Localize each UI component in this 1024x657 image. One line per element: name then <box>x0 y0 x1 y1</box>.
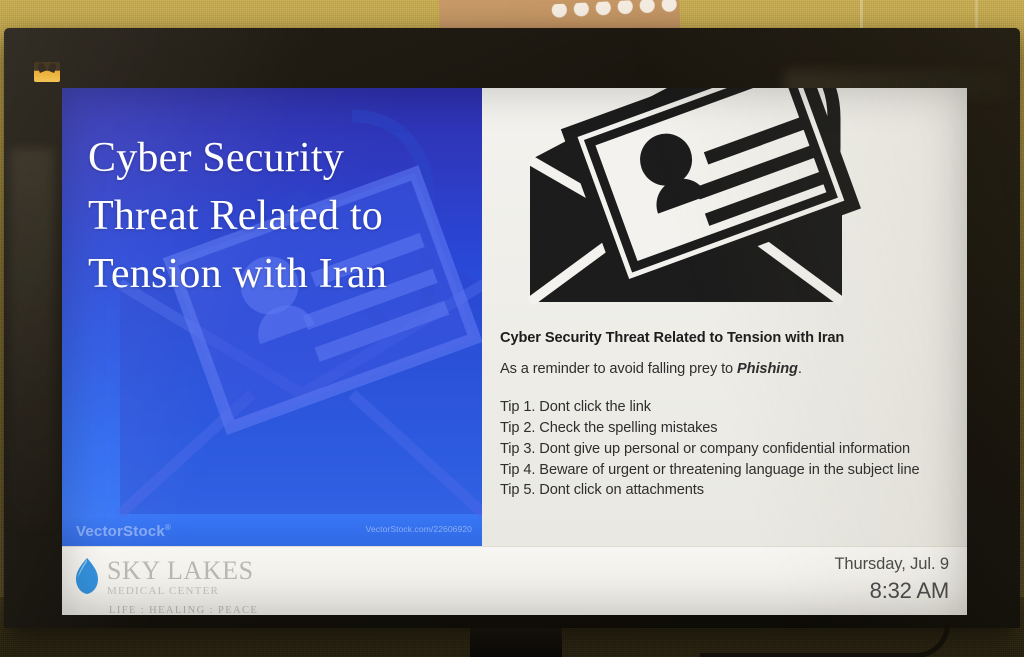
slide-text-block: Cyber Security Threat Related to Tension… <box>500 330 957 501</box>
vectorstock-logo-text: VectorStock <box>76 523 165 540</box>
sky-lakes-logo: SKY LAKES MEDICAL CENTER LIFE : HEALING … <box>74 557 258 615</box>
registered-mark-icon: ® <box>165 523 171 532</box>
tip-item: Tip 5. Dont click on attachments <box>500 480 957 501</box>
tip-item: Tip 1. Dont click the link <box>500 397 957 418</box>
monitor: Cyber Security Threat Related to Tension… <box>4 28 1020 628</box>
vectorstock-watermark-bar: VectorStock® VectorStock.com/22606920 <box>62 516 482 546</box>
slide-title-line-1: Cyber Security <box>88 130 468 188</box>
reminder-suffix: . <box>798 361 802 377</box>
clock-time: 8:32 AM <box>834 578 949 604</box>
vectorstock-url: VectorStock.com/22606920 <box>366 524 472 534</box>
slide-title-panel: Cyber Security Threat Related to Tension… <box>62 88 482 546</box>
slide-title-line-2: Threat Related to <box>88 188 468 246</box>
slide-title: Cyber Security Threat Related to Tension… <box>88 130 468 304</box>
vectorstock-logo: VectorStock® <box>76 523 171 540</box>
tip-item: Tip 2. Check the spelling mistakes <box>500 418 957 439</box>
clock-widget: Thursday, Jul. 9 8:32 AM <box>834 555 949 604</box>
reminder-text: As a reminder to avoid falling prey to P… <box>500 361 957 377</box>
logo-name: SKY LAKES <box>107 559 258 584</box>
tip-item: Tip 3. Dont give up personal or company … <box>500 439 957 460</box>
slide: Cyber Security Threat Related to Tension… <box>62 88 967 546</box>
logo-tagline: LIFE : HEALING : PEACE <box>109 605 258 615</box>
tip-item: Tip 4. Beware of urgent or threatening l… <box>500 460 957 481</box>
slide-content-panel: Cyber Security Threat Related to Tension… <box>482 88 967 546</box>
phishing-emphasis: Phishing <box>737 361 798 377</box>
reminder-prefix: As a reminder to avoid falling prey to <box>500 361 737 377</box>
flame-leaf-logo-icon <box>74 557 100 595</box>
content-headline: Cyber Security Threat Related to Tension… <box>500 330 957 346</box>
phishing-envelope-id-card-monochrome-icon <box>524 88 914 340</box>
monitor-cable <box>700 624 950 657</box>
monitor-screen: Cyber Security Threat Related to Tension… <box>62 88 967 615</box>
tips-list: Tip 1. Dont click the link Tip 2. Check … <box>500 397 957 501</box>
bezel-reflection <box>10 148 54 528</box>
sky-lakes-logo-text: SKY LAKES MEDICAL CENTER LIFE : HEALING … <box>107 557 258 615</box>
slide-title-line-3: Tension with Iran <box>88 246 468 304</box>
bezel-sticker <box>34 62 60 82</box>
monitor-stand <box>470 628 562 657</box>
logo-subtitle: MEDICAL CENTER <box>107 585 258 597</box>
clock-date: Thursday, Jul. 9 <box>834 555 949 574</box>
slide-footer: SKY LAKES MEDICAL CENTER LIFE : HEALING … <box>62 546 967 615</box>
